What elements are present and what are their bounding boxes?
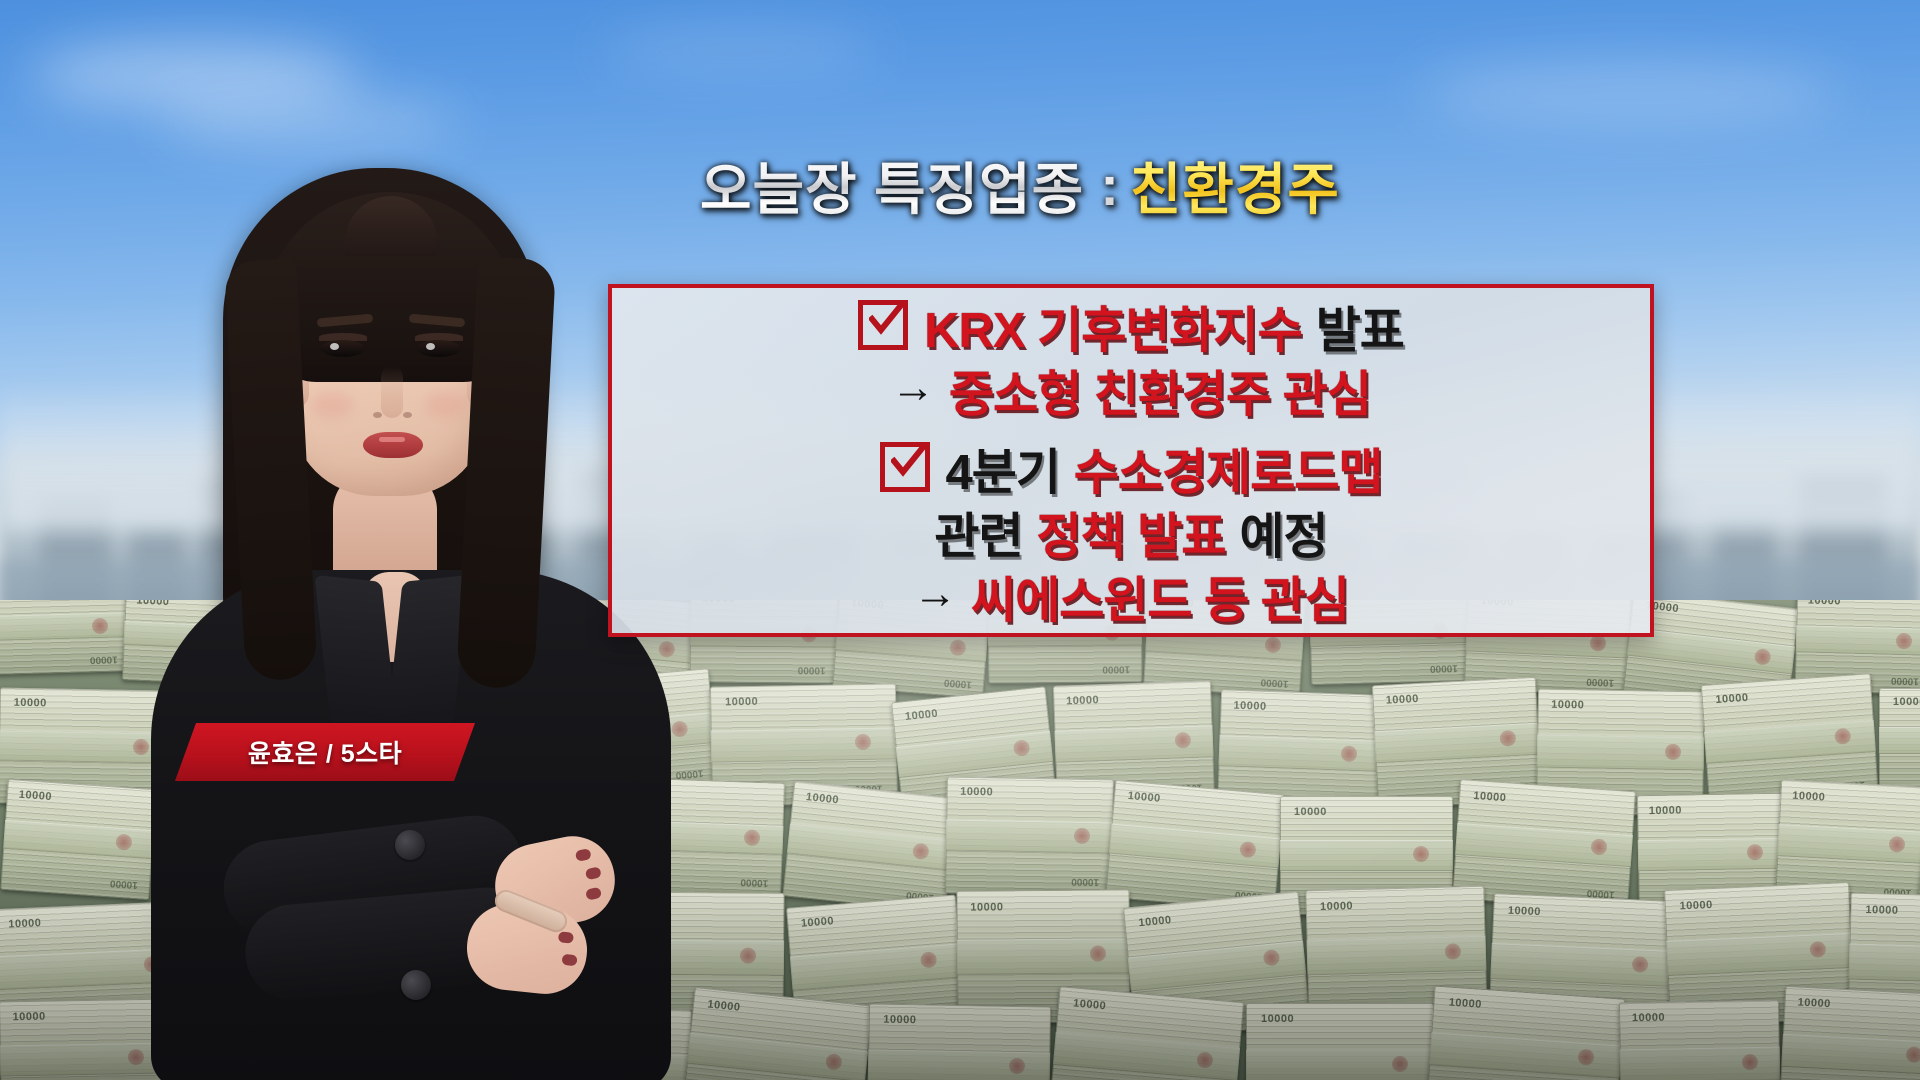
arrow-right-icon: →	[891, 366, 935, 410]
banknote-bundle: 1000010000	[1105, 780, 1285, 912]
panel-line: 관련정책 발표예정	[612, 501, 1650, 565]
panel-text-segment: KRX 기후변화지수	[924, 291, 1302, 362]
program-title: 오늘장 특징업종 : 친환경주	[700, 148, 1340, 222]
title-accent-text: 친환경주	[1130, 145, 1340, 226]
banknote-bundle: 1000010000	[867, 1003, 1051, 1080]
banknote-bundle: 1000010000	[782, 781, 957, 914]
cloud	[1420, 60, 1840, 126]
banknote-bundle: 1000010000	[1779, 986, 1920, 1080]
title-main-text: 오늘장 특징업종	[700, 145, 1090, 226]
panel-text-segment: 발표	[1316, 291, 1404, 362]
banknote-bundle: 1000010000	[1879, 688, 1920, 793]
panel-text-segment: 정책 발표	[1037, 497, 1226, 568]
info-panel: KRX 기후변화지수발표→중소형 친환경주 관심4분기수소경제로드맵관련정책 발…	[608, 284, 1654, 637]
panel-line: 4분기수소경제로드맵	[612, 437, 1650, 501]
checkbox-checked-icon	[858, 300, 908, 350]
broadcast-frame: 1000010000100001000010000100001000010000…	[0, 0, 1920, 1080]
banknote-bundle: 1000010000	[945, 777, 1114, 897]
title-colon: :	[1090, 153, 1130, 218]
banknote-bundle: 1000010000	[1049, 986, 1244, 1080]
panel-line: →씨에스윈드 등 관심	[612, 565, 1650, 629]
banknote-bundle: 1000010000	[1426, 985, 1625, 1080]
arrow-right-icon: →	[913, 572, 957, 616]
panel-text-segment: 관련	[934, 497, 1022, 568]
banknote-bundle: 1000010000	[1246, 1003, 1434, 1080]
panel-line: KRX 기후변화지수발표	[612, 295, 1650, 359]
panel-text-segment: 예정	[1239, 497, 1327, 568]
panel-text-segment: 수소경제로드맵	[1074, 433, 1383, 504]
panel-text-segment: 중소형 친환경주 관심	[949, 355, 1371, 426]
news-anchor-figure	[95, 140, 695, 1080]
checkbox-checked-icon	[880, 442, 930, 492]
panel-text-segment: 씨에스윈드 등 관심	[971, 561, 1349, 632]
banknote-bundle: 1000010000	[682, 987, 873, 1080]
anchor-name-text: 윤효은 / 5스타	[248, 734, 402, 770]
panel-line-list: KRX 기후변화지수발표→중소형 친환경주 관심4분기수소경제로드맵관련정책 발…	[612, 288, 1650, 633]
banknote-bundle: 1000010000	[1619, 1000, 1781, 1080]
panel-line: →중소형 친환경주 관심	[612, 359, 1650, 423]
panel-text-segment: 4분기	[946, 433, 1060, 504]
anchor-name-badge: 윤효은 / 5스타	[175, 723, 475, 781]
cloud	[600, 28, 880, 72]
